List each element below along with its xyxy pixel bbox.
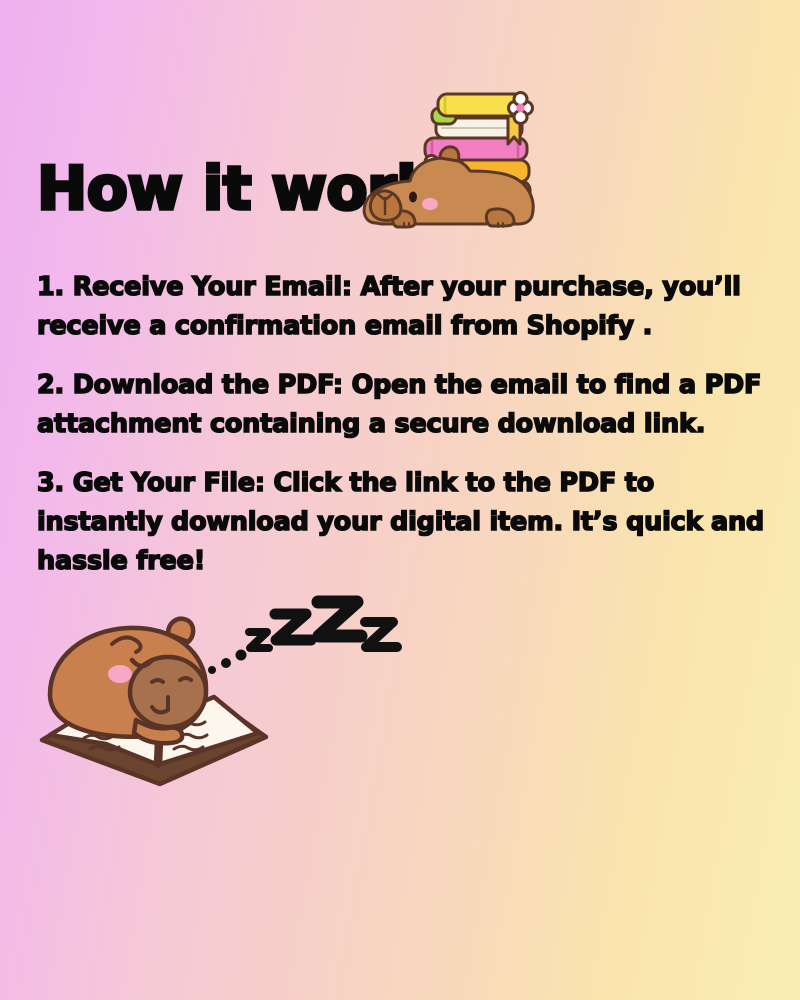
sleeping-capybara-blush <box>108 665 132 683</box>
capybara-eye <box>409 192 417 203</box>
poster-canvas: How it works <box>0 0 800 1000</box>
capybara-ear <box>440 147 459 161</box>
zzz-glyphs <box>249 602 397 648</box>
steps-list: 1. Receive Your Email: After your purcha… <box>37 268 767 581</box>
capybara-with-books-illustration <box>352 52 552 237</box>
step-item-3: 3. Get Your File: Click the link to the … <box>37 464 767 581</box>
step-item-2: 2. Download the PDF: Open the email to f… <box>37 366 767 444</box>
capybara-rear-leg <box>486 209 514 226</box>
capybara-blush <box>422 198 438 210</box>
sleep-zzz-illustration <box>205 592 415 687</box>
step-item-1: 1. Receive Your Email: After your purcha… <box>37 268 767 346</box>
zzz-dots <box>208 650 247 675</box>
